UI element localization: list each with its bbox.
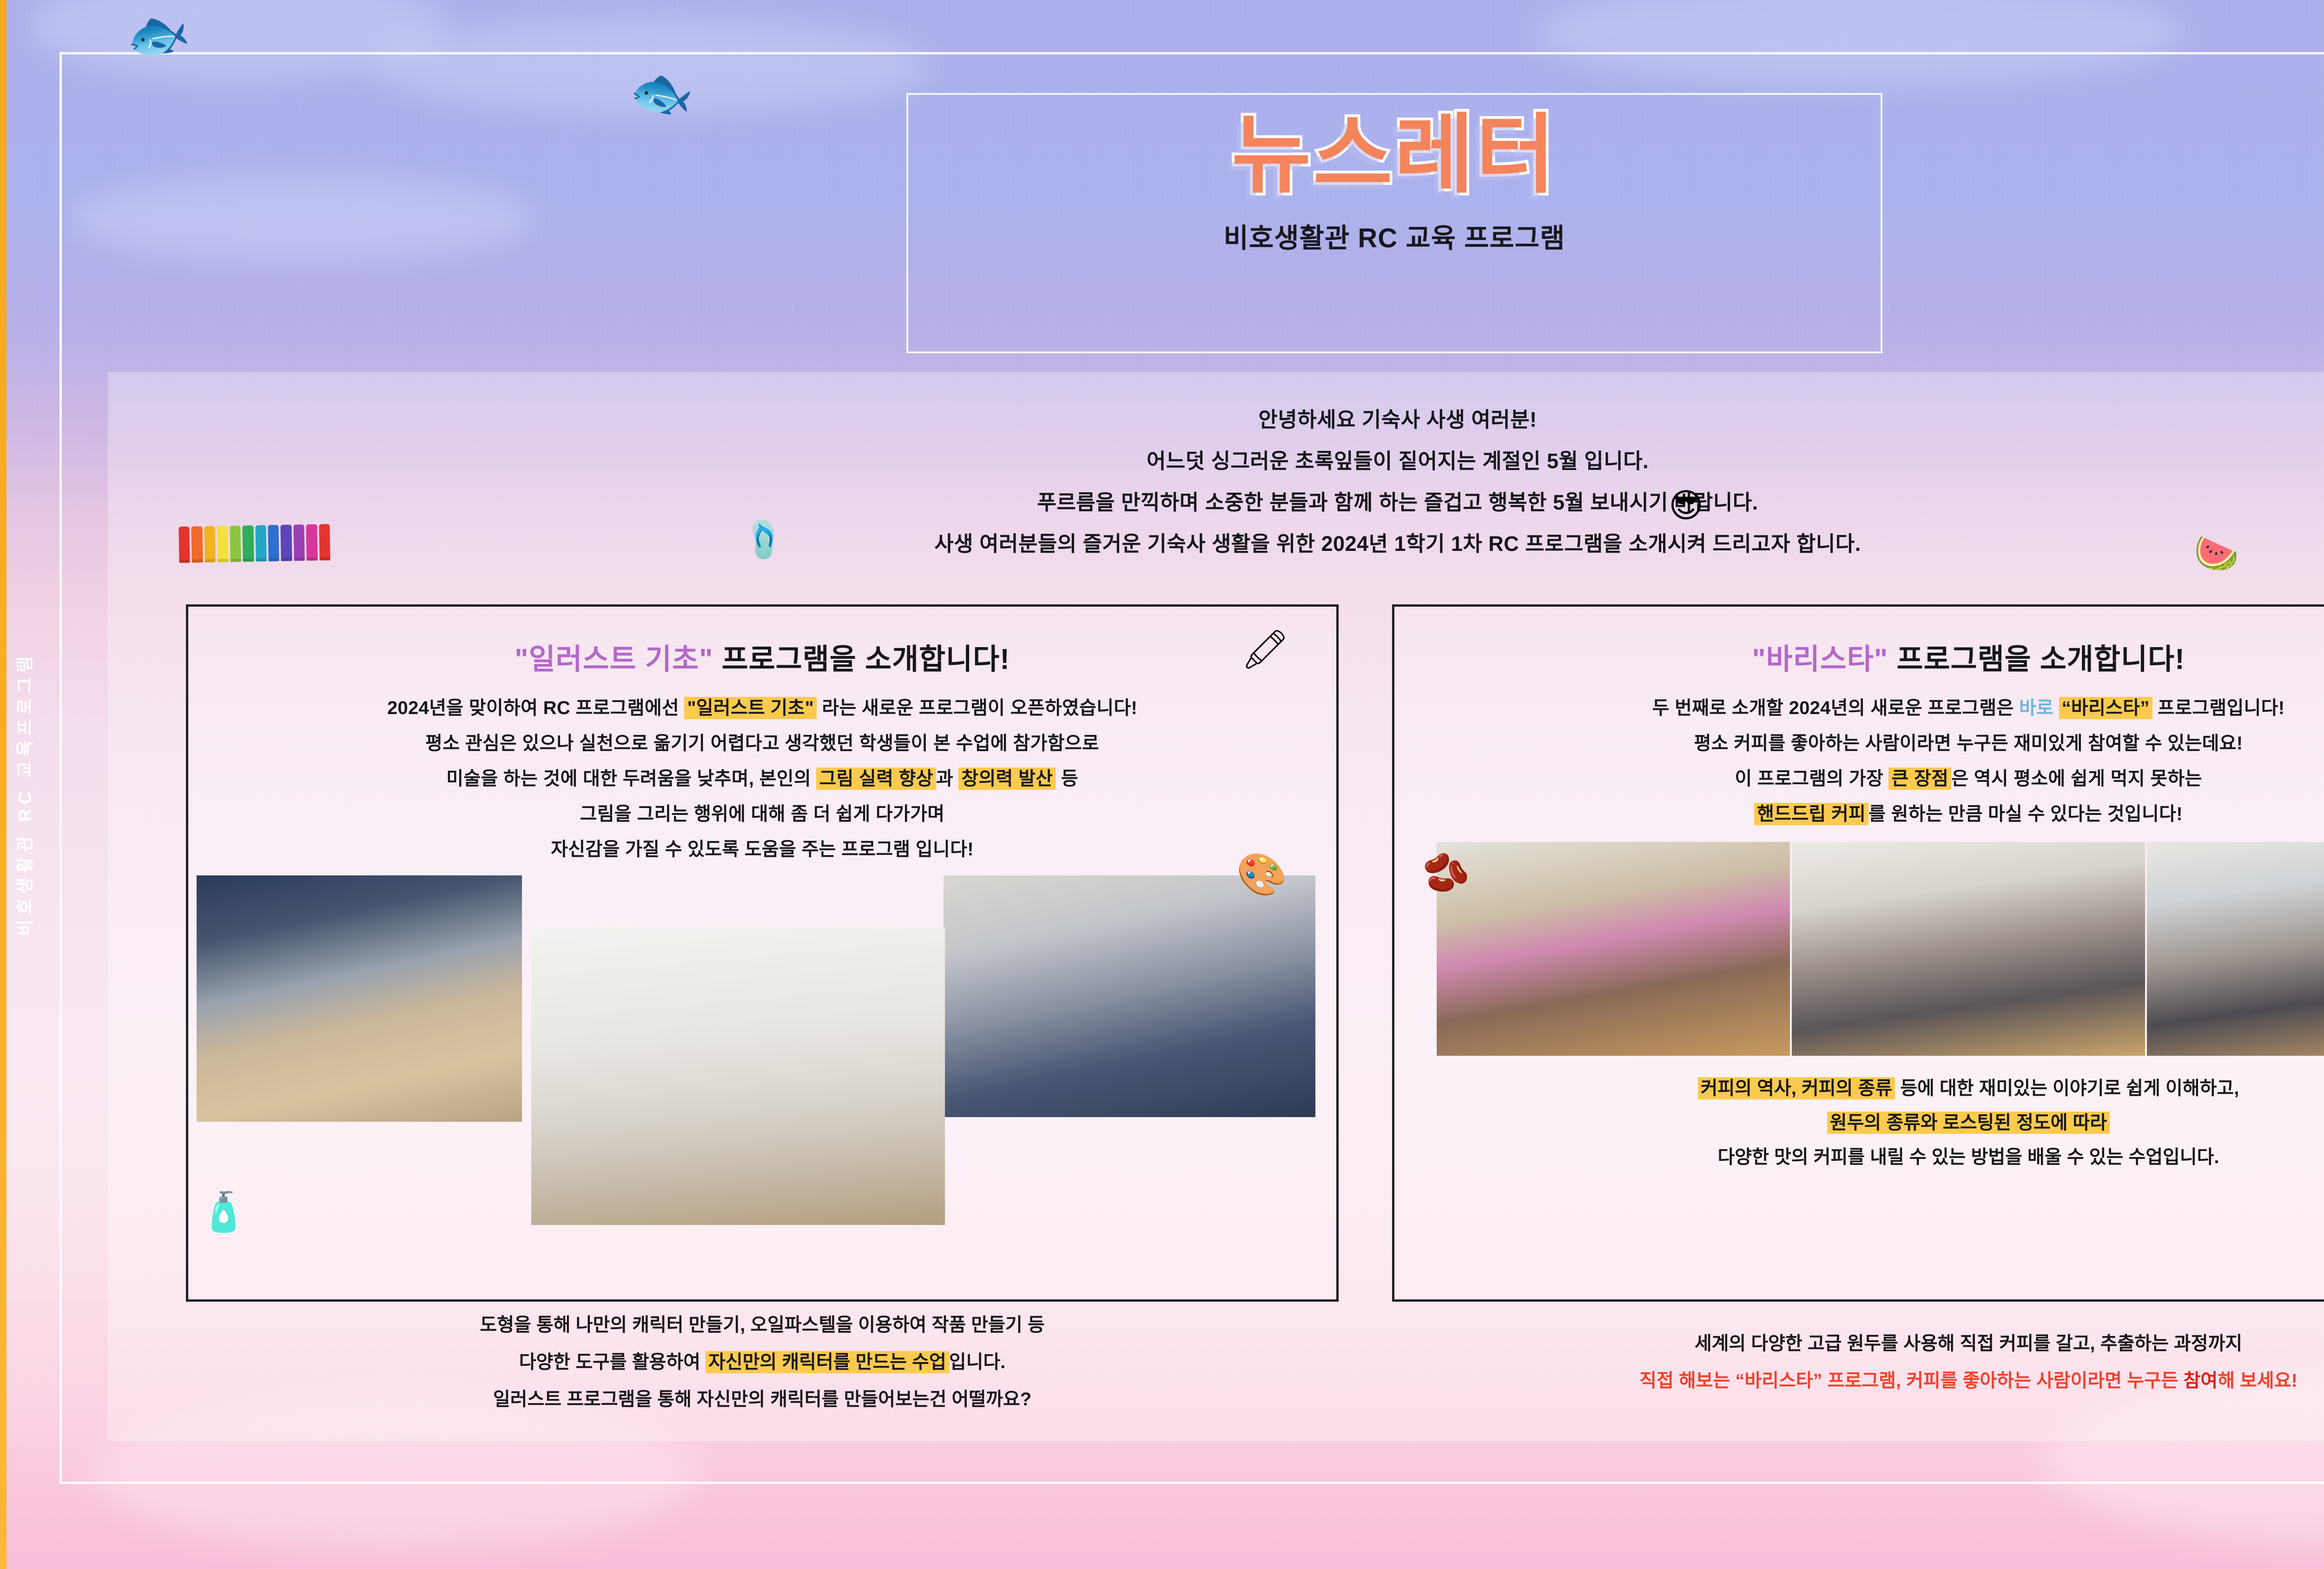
body-line: 평소 관심은 있으나 실천으로 옮기기 어렵다고 생각했던 학생들이 본 수업에… <box>188 734 1336 753</box>
program-keyword: "바리스타" <box>1752 643 1888 675</box>
crayon-stick <box>268 525 279 561</box>
text-post: 프로그램입니다! <box>2152 698 2285 718</box>
palette-emoji-icon: 🎨 <box>1236 851 1287 899</box>
wash-blob <box>372 19 930 112</box>
intro-line: 사생 여러분들의 즐거운 기숙사 생활을 위한 2024년 1학기 1차 RC … <box>108 533 2324 554</box>
watermelon-emoji-icon: 🍉 <box>2194 532 2239 575</box>
crayon-stick <box>255 525 267 562</box>
intro-line: 안녕하세요 기숙사 사생 여러분! <box>108 409 2324 430</box>
fish-icon: 🐟 <box>626 59 698 127</box>
body-line: 미술을 하는 것에 대한 두려움을 낮추며, 본인의 그림 실력 향상과 창의력… <box>188 769 1336 788</box>
text-highlight: “바리스타” <box>2059 697 2152 719</box>
left-edge-strip <box>0 0 7 1569</box>
text-post: 등에 대한 재미있는 이야기로 쉽게 이해하고, <box>1895 1078 2239 1099</box>
text-blue: 바로 <box>2019 698 2059 718</box>
intro-line: 푸르름을 만끽하며 소중한 분들과 함께 하는 즐겁고 행복한 5월 보내시기 … <box>108 492 2324 513</box>
caption-line: 다양한 맛의 커피를 내릴 수 있는 방법을 배울 수 있는 수업입니다. <box>1394 1148 2324 1166</box>
program-title-illustration: "일러스트 기초" 프로그램을 소개합니다! <box>188 636 1336 677</box>
text-pre: 다양한 도구를 활용하여 <box>519 1352 706 1372</box>
intro-line: 어느덧 싱그러운 초록잎들이 짙어지는 계절인 5월 입니다. <box>108 450 2324 471</box>
body-line: 자신감을 가질 수 있도록 도움을 주는 프로그램 입니다! <box>188 840 1336 859</box>
text-pre: 2024년을 맞이하여 RC 프로그램에선 <box>387 698 684 718</box>
photo-barista-handdrip <box>2147 842 2324 1056</box>
program-footer-barista: 세계의 다양한 고급 원두를 사용해 직접 커피를 갈고, 추출하는 과정까지 … <box>1392 1334 2324 1409</box>
text-post: 은 역시 평소에 쉽게 먹지 못하는 <box>1951 768 2202 789</box>
body-line: 핸드드립 커피를 원하는 만큼 마실 수 있다는 것입니다! <box>1394 805 2324 823</box>
wash-blob <box>1534 0 2185 84</box>
masthead: 뉴스레터 비호생활관 RC 교육 프로그램 <box>906 93 1882 353</box>
sunglasses-emoji-icon: 😎 <box>1669 486 1703 525</box>
text-highlight: 원두의 종류와 로스팅된 정도에 따라 <box>1827 1112 2110 1134</box>
footer-line: 다양한 도구를 활용하여 자신만의 캐릭터를 만드는 수업입니다. <box>186 1353 1339 1371</box>
masthead-subtitle: 비호생활관 RC 교육 프로그램 <box>908 216 1881 255</box>
text-mid: 과 <box>936 768 959 789</box>
program-title-rest: 프로그램을 소개합니다! <box>1888 643 2185 675</box>
crayon-stick <box>293 524 305 561</box>
intro-block: 안녕하세요 기숙사 사생 여러분! 어느덧 싱그러운 초록잎들이 짙어지는 계절… <box>108 409 2324 575</box>
program-card-barista: "바리스타" 프로그램을 소개합니다! 두 번째로 소개할 2024년의 새로운… <box>1392 604 2324 1302</box>
body-line: 두 번째로 소개할 2024년의 새로운 프로그램은 바로 “바리스타” 프로그… <box>1394 699 2324 717</box>
text-highlight: 자신만의 캐릭터를 만드는 수업 <box>706 1351 949 1373</box>
program-caption-barista: 커피의 역사, 커피의 종류 등에 대한 재미있는 이야기로 쉽게 이해하고, … <box>1394 1079 2324 1166</box>
photo-collage-barista <box>1394 842 2324 1065</box>
photo-illustration-class-2 <box>944 875 1315 1117</box>
photo-illustration-class-1 <box>197 875 522 1122</box>
text-highlight: 그림 실력 향상 <box>816 768 936 790</box>
photo-barista-class-group <box>1792 842 2145 1056</box>
text-pre: 이 프로그램의 가장 <box>1735 768 1888 789</box>
text-post: 입니다. <box>949 1352 1006 1372</box>
text-highlight: 창의력 발산 <box>958 768 1056 790</box>
footer-line: 일러스트 프로그램을 통해 자신만의 캐릭터를 만들어보는건 어떨까요? <box>186 1390 1339 1409</box>
body-line: 이 프로그램의 가장 큰 장점은 역시 평소에 쉽게 먹지 못하는 <box>1394 769 2324 788</box>
photo-student-character-drawing <box>531 927 945 1225</box>
crayon-stick <box>178 526 190 563</box>
crayon-stick <box>217 526 229 562</box>
text-highlight: 큰 장점 <box>1888 768 1951 790</box>
caption-line: 커피의 역사, 커피의 종류 등에 대한 재미있는 이야기로 쉽게 이해하고, <box>1394 1079 2324 1098</box>
text-post: 등 <box>1056 768 1078 789</box>
crayon-stick <box>319 524 330 560</box>
text-pre: 두 번째로 소개할 2024년의 새로운 프로그램은 <box>1652 698 2019 718</box>
side-caption-left: 비호생활관 RC 교육프로그램 <box>11 548 36 1040</box>
text-highlight: "일러스트 기초" <box>684 697 817 719</box>
wash-blob <box>28 0 446 79</box>
page-title: 뉴스레터 <box>908 110 1881 200</box>
program-title-rest: 프로그램을 소개합니다! <box>713 643 1010 675</box>
program-card-illustration: "일러스트 기초" 프로그램을 소개합니다! 2024년을 맞이하여 RC 프로… <box>186 604 1339 1302</box>
footer-line: 도형을 통해 나만의 캐릭터 만들기, 오일파스텔을 이용하여 작품 만들기 등 <box>186 1316 1339 1334</box>
footer-line-red: 직접 해보는 “바리스타” 프로그램, 커피를 좋아하는 사람이라면 누구든 참… <box>1392 1371 2324 1390</box>
newsletter-page: 🐟 🐟 🌿 🌿 뉴스레터 비호생활관 RC 교육 프로그램 제 35호 2024… <box>0 0 2324 1569</box>
text-post: 를 원하는 만큼 마실 수 있다는 것입니다! <box>1868 804 2183 824</box>
program-footer-illustration: 도형을 통해 나만의 캐릭터 만들기, 오일파스텔을 이용하여 작품 만들기 등… <box>186 1316 1339 1427</box>
text-red-pre: 직접 해보는 “바리스타” 프로그램, 커피를 좋아하는 사람이라면 누구든 <box>1639 1370 2183 1391</box>
wash-blob <box>70 177 535 260</box>
caption-line: 원두의 종류와 로스팅된 정도에 따라 <box>1394 1113 2324 1132</box>
crayon-stick <box>191 526 203 563</box>
crayon-stick <box>306 524 318 561</box>
crayon-stick <box>230 526 241 562</box>
crayon-stick <box>281 525 292 561</box>
crayons-decoration <box>178 524 330 563</box>
footer-line: 세계의 다양한 고급 원두를 사용해 직접 커피를 갈고, 추출하는 과정까지 <box>1392 1334 2324 1353</box>
text-highlight: 커피의 역사, 커피의 종류 <box>1698 1077 1895 1099</box>
text-pre: 미술을 하는 것에 대한 두려움을 낮추며, 본인의 <box>446 768 816 789</box>
body-line: 2024년을 맞이하여 RC 프로그램에선 "일러스트 기초" 라는 새로운 프… <box>188 699 1336 717</box>
photo-collage-illustration <box>188 875 1336 1136</box>
program-title-barista: "바리스타" 프로그램을 소개합니다! <box>1394 636 2324 677</box>
body-line: 평소 커피를 좋아하는 사람이라면 누구든 재미있게 참여할 수 있는데요! <box>1394 734 2324 753</box>
flipflop-emoji-icon: 🩴 <box>741 518 786 561</box>
program-body-barista: 두 번째로 소개할 2024년의 새로운 프로그램은 바로 “바리스타” 프로그… <box>1394 699 2324 823</box>
crayon-emoji-icon: 🖍 <box>1241 628 1289 672</box>
text-red-strong: 참여 <box>2184 1370 2218 1391</box>
text-red-post: 해 보세요! <box>2218 1370 2298 1391</box>
program-body-illustration: 2024년을 맞이하여 RC 프로그램에선 "일러스트 기초" 라는 새로운 프… <box>188 699 1336 859</box>
text-highlight: 핸드드립 커피 <box>1754 803 1868 825</box>
body-line: 그림을 그리는 행위에 대해 좀 더 쉽게 다가가며 <box>188 805 1336 823</box>
program-keyword: "일러스트 기초" <box>515 643 713 675</box>
fish-icon: 🐟 <box>120 0 195 71</box>
text-post: 라는 새로운 프로그램이 오픈하였습니다! <box>817 698 1137 718</box>
paint-tube-emoji-icon: 🧴 <box>200 1190 247 1235</box>
crayon-stick <box>204 526 216 562</box>
coffee-bean-icon: 🫘 <box>1422 851 1470 895</box>
photo-barista-brewing-1 <box>1437 842 1790 1056</box>
crayon-stick <box>242 525 254 562</box>
